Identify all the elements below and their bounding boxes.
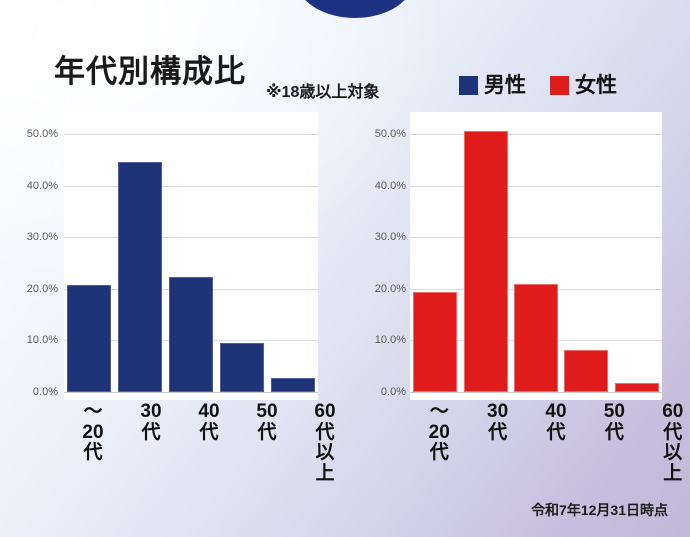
x-axis-tick-3: 50代 <box>238 402 296 512</box>
y-axis-tick-label: 10.0% <box>27 334 58 346</box>
y-axis-tick-label: 40.0% <box>375 180 406 192</box>
x-axis-tick-1: 30代 <box>122 402 180 512</box>
bar-slot <box>511 112 561 400</box>
chart-panel-male: 50.0%40.0%30.0%20.0%10.0%0.0% <box>14 112 318 400</box>
bar-slot <box>115 112 166 400</box>
legend-item-female: 女性 <box>550 75 617 96</box>
bar-slot <box>460 112 510 400</box>
x-axis-tick-char: 上 <box>315 464 334 485</box>
x-axis-tick-0: 〜20代 <box>410 402 468 512</box>
x-axis-tick-0: 〜20代 <box>64 402 122 512</box>
x-axis-tick-char: 代 <box>546 423 565 444</box>
x-axis-tick-char: 30 <box>140 402 161 423</box>
bar-male-3 <box>220 343 264 392</box>
bar-female-1 <box>464 131 508 392</box>
x-axis-tick-char: 50 <box>256 402 277 423</box>
y-axis-tick-label: 50.0% <box>27 128 58 140</box>
x-axis-tick-char: 代 <box>663 423 682 444</box>
x-axis-female: 〜20代30代40代50代60代以上 <box>410 402 690 512</box>
x-axis-tick-char: 代 <box>315 423 334 444</box>
bar-slot <box>166 112 217 400</box>
bar-group-male <box>64 112 318 400</box>
x-axis-tick-2: 40代 <box>180 402 238 512</box>
x-axis-tick-char: 代 <box>430 443 449 464</box>
bar-slot <box>561 112 611 400</box>
x-axis-tick-3: 50代 <box>585 402 643 512</box>
top-decorative-ellipse <box>296 0 414 18</box>
x-axis-tick-4: 60代以上 <box>296 402 354 512</box>
x-axis-male: 〜20代30代40代50代60代以上 <box>64 402 354 512</box>
y-axis-tick-label: 10.0% <box>375 334 406 346</box>
bar-slot <box>410 112 460 400</box>
x-axis-tick-char: 上 <box>663 464 682 485</box>
x-axis-tick-char: 40 <box>198 402 219 423</box>
y-axis-tick-label: 50.0% <box>375 128 406 140</box>
square-swatch-male-icon <box>459 76 478 95</box>
page-title: 年代別構成比 <box>54 56 246 87</box>
bar-group-female <box>410 112 662 400</box>
x-axis-tick-4: 60代以上 <box>644 402 690 512</box>
x-axis-tick-char: 代 <box>141 423 160 444</box>
y-axis-tick-label: 40.0% <box>27 180 58 192</box>
chart-panel-female: 50.0%40.0%30.0%20.0%10.0%0.0% <box>362 112 664 400</box>
x-axis-tick-char: 40 <box>545 402 566 423</box>
bar-slot <box>612 112 662 400</box>
x-axis-tick-char: 以 <box>663 443 682 464</box>
y-axis-tick-label: 0.0% <box>381 386 406 398</box>
x-axis-tick-char: 50 <box>604 402 625 423</box>
bar-slot <box>267 112 318 400</box>
bar-male-1 <box>118 162 162 392</box>
x-axis-tick-char: 代 <box>488 423 507 444</box>
slide-root: 年代別構成比 ※18歳以上対象 男性 女性 50.0%40.0%30.0%20.… <box>0 0 690 537</box>
legend-item-male: 男性 <box>459 75 526 96</box>
bar-female-3 <box>564 350 608 392</box>
x-axis-tick-char: 代 <box>83 443 102 464</box>
legend-label-female: 女性 <box>575 75 617 96</box>
x-axis-tick-2: 40代 <box>527 402 585 512</box>
chart-legend: 男性 女性 <box>459 75 617 96</box>
as-of-date-note: 令和7年12月31日時点 <box>531 500 668 520</box>
legend-label-male: 男性 <box>484 75 526 96</box>
y-axis-male: 50.0%40.0%30.0%20.0%10.0%0.0% <box>14 112 64 400</box>
bar-male-2 <box>169 277 213 392</box>
bar-male-0 <box>67 285 111 392</box>
x-axis-tick-char: 20 <box>429 423 450 444</box>
x-axis-tick-1: 30代 <box>468 402 526 512</box>
x-axis-tick-char: 代 <box>199 423 218 444</box>
y-axis-tick-label: 20.0% <box>375 283 406 295</box>
bar-female-0 <box>413 292 457 392</box>
bar-slot <box>64 112 115 400</box>
x-axis-tick-char: 以 <box>315 443 334 464</box>
y-axis-tick-label: 20.0% <box>27 283 58 295</box>
x-axis-tick-char: 30 <box>487 402 508 423</box>
title-footnote: ※18歳以上対象 <box>266 78 379 102</box>
x-axis-tick-char: 60 <box>314 402 335 423</box>
y-axis-female: 50.0%40.0%30.0%20.0%10.0%0.0% <box>362 112 412 400</box>
x-axis-tick-char: 〜 <box>83 402 102 423</box>
bar-male-4 <box>271 378 315 392</box>
y-axis-tick-label: 0.0% <box>33 386 58 398</box>
bar-female-2 <box>514 284 558 392</box>
y-axis-tick-label: 30.0% <box>27 231 58 243</box>
bar-slot <box>216 112 267 400</box>
slide-header: 年代別構成比 ※18歳以上対象 男性 女性 <box>0 28 690 82</box>
x-axis-tick-char: 〜 <box>430 402 449 423</box>
x-axis-tick-char: 60 <box>662 402 683 423</box>
bar-female-4 <box>615 383 659 392</box>
x-axis-tick-char: 代 <box>257 423 276 444</box>
y-axis-tick-label: 30.0% <box>375 231 406 243</box>
square-swatch-female-icon <box>550 76 569 95</box>
x-axis-tick-char: 20 <box>82 423 103 444</box>
x-axis-tick-char: 代 <box>605 423 624 444</box>
